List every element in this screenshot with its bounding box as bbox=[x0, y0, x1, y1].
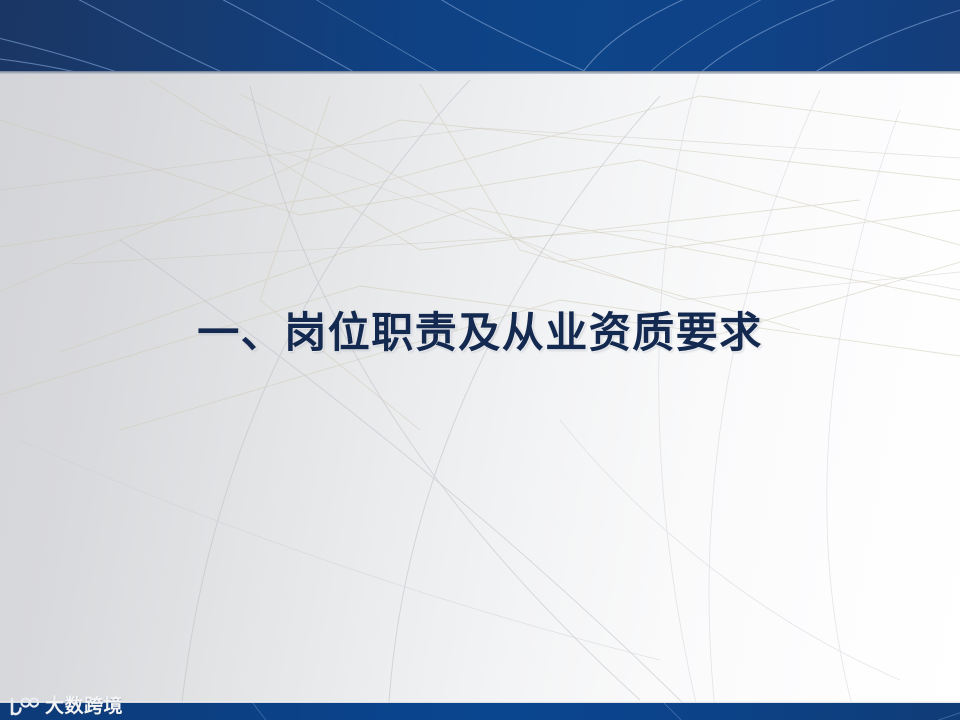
top-banner-divider bbox=[0, 71, 960, 74]
bottom-banner-decoration bbox=[0, 703, 960, 720]
top-banner bbox=[0, 0, 960, 71]
background-line-pattern bbox=[0, 0, 960, 720]
slide-title-container: 一、岗位职责及从业资质要求 bbox=[0, 308, 960, 358]
page-title: 一、岗位职责及从业资质要求 bbox=[197, 308, 763, 358]
presentation-slide: 一、岗位职责及从业资质要求 大数跨境 bbox=[0, 0, 960, 720]
top-banner-decoration bbox=[0, 0, 960, 71]
bottom-banner bbox=[0, 703, 960, 720]
